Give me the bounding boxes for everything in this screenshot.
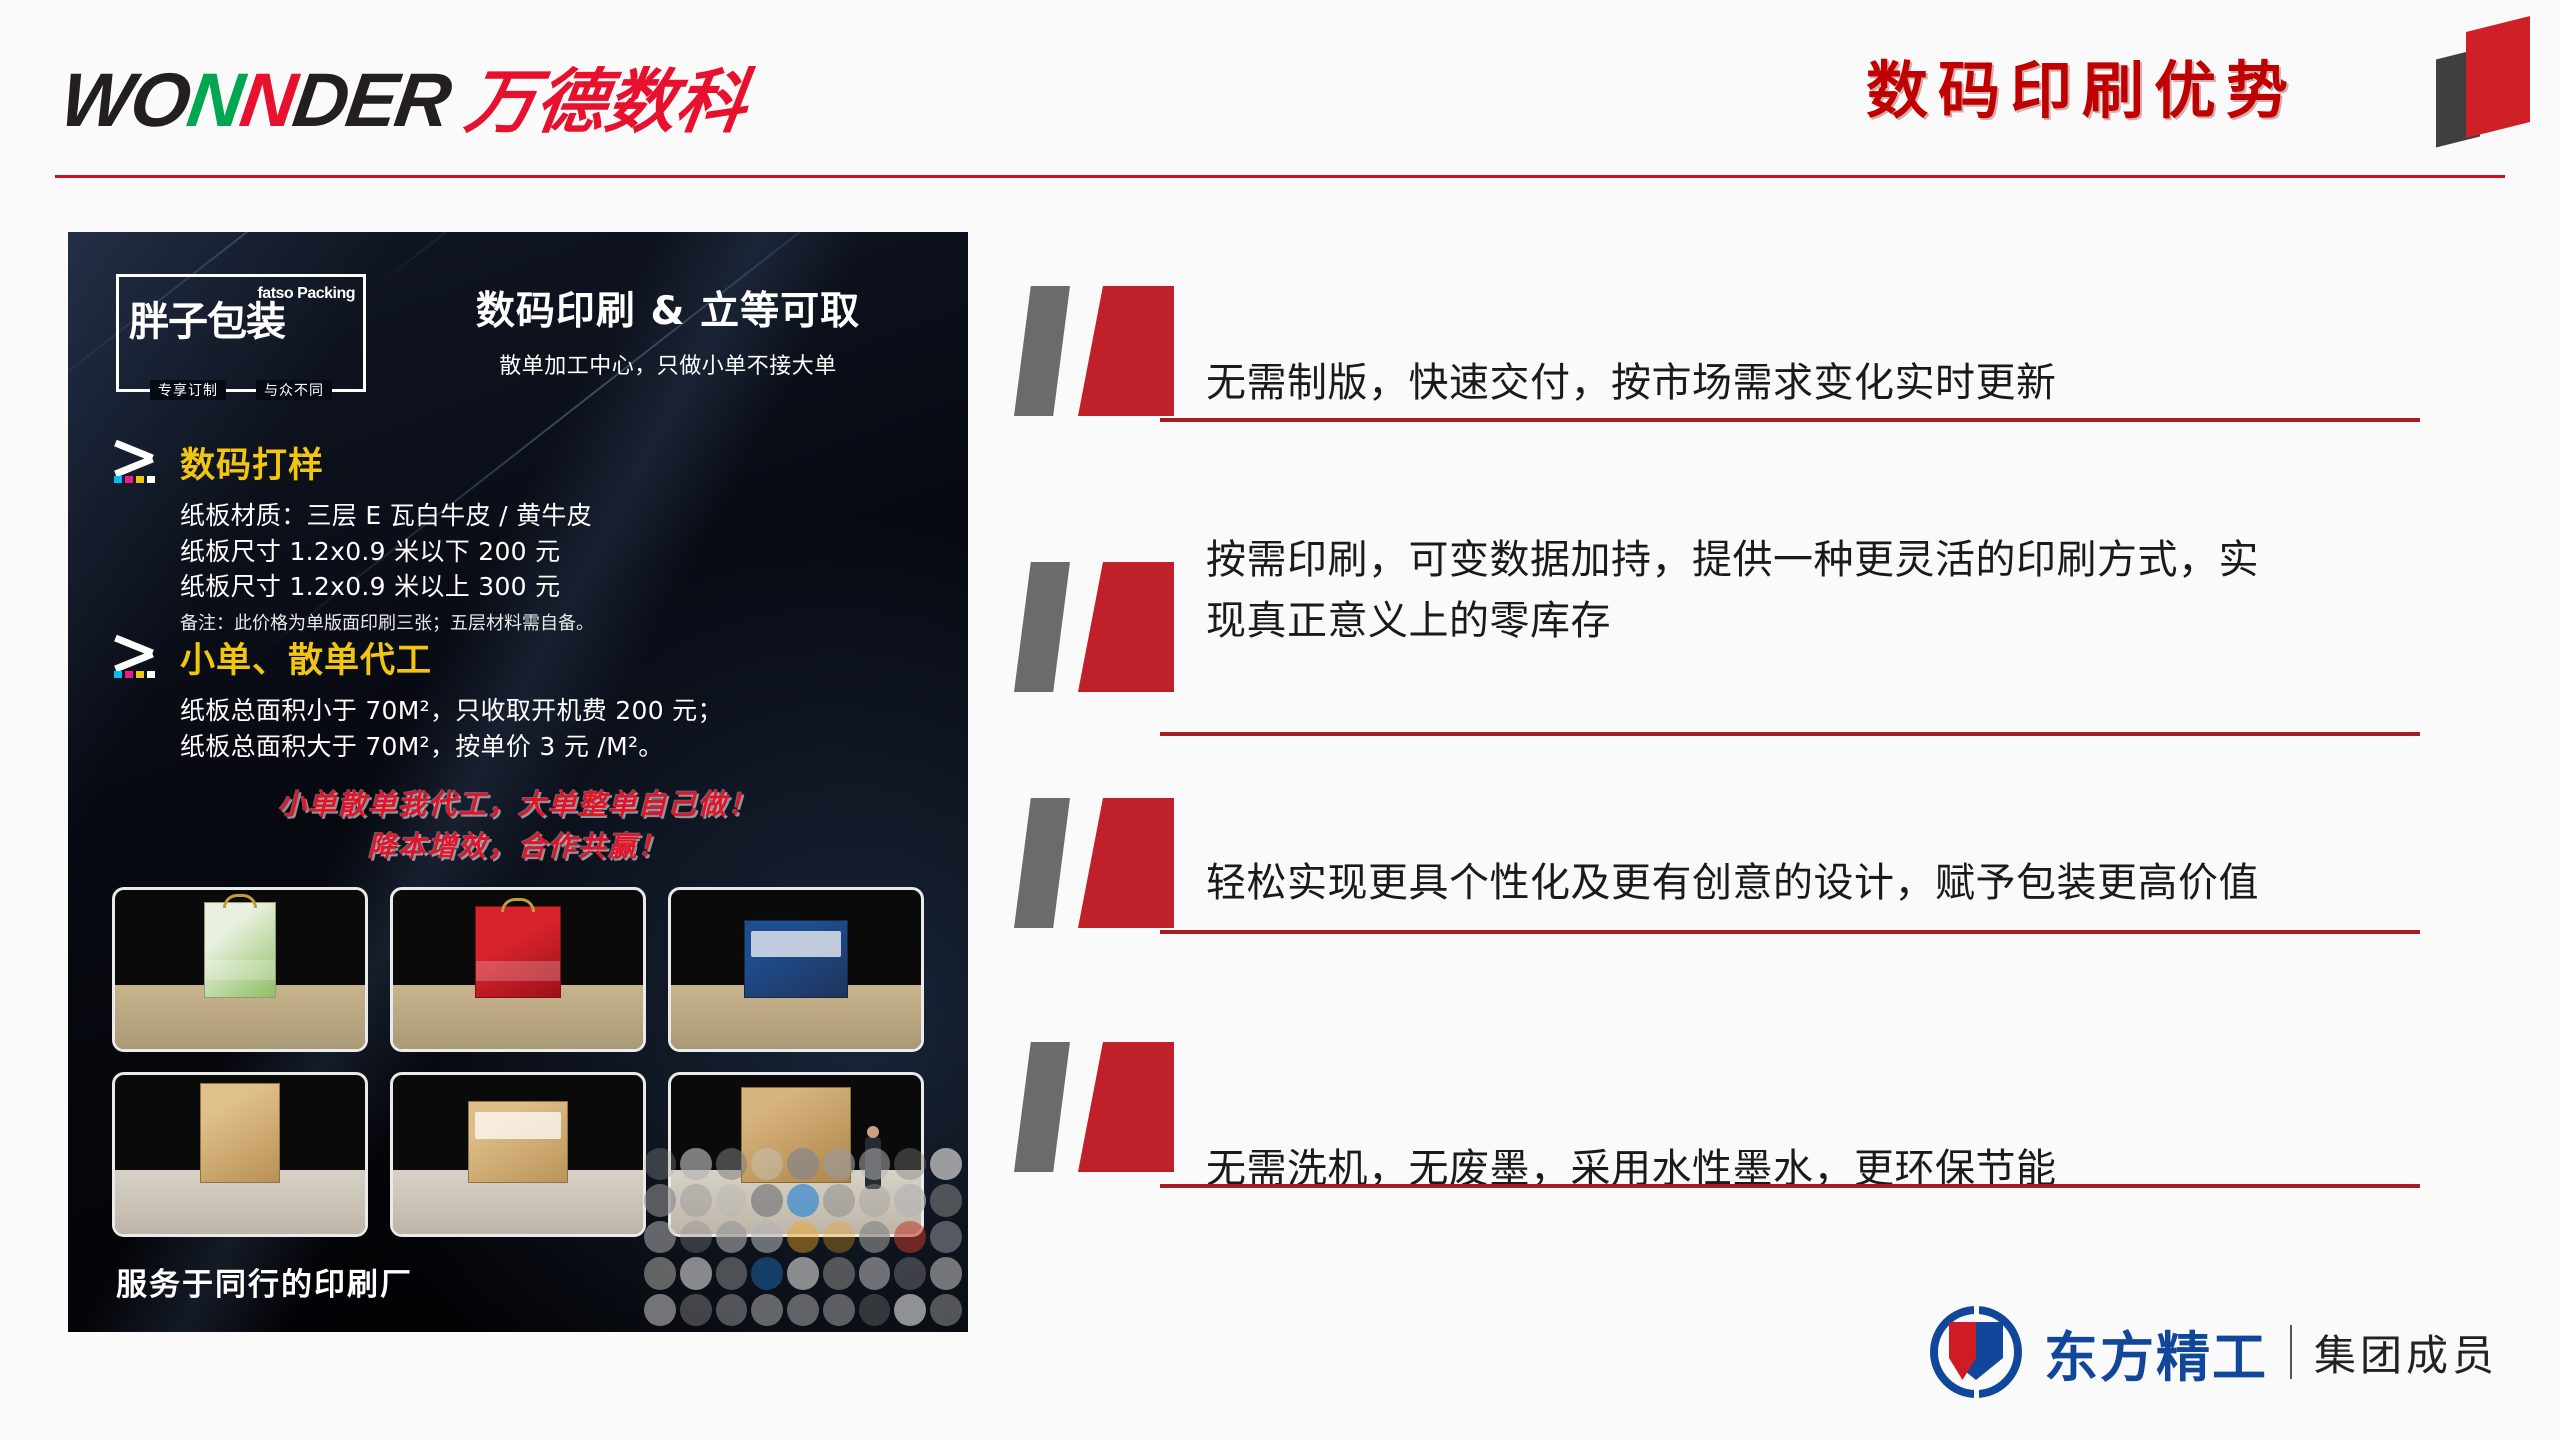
pattern-dot: [894, 1148, 926, 1180]
poster-subheadline: 散单加工中心，只做小单不接大单: [398, 348, 938, 380]
advantage-item-3: 轻松实现更具个性化及更有创意的设计，赋予包装更高价值: [1010, 788, 2430, 938]
advantage-item-2: 按需印刷，可变数据加持，提供一种更灵活的印刷方式，实 现真正意义上的零库存: [1010, 530, 2430, 720]
advantage-underline: [1160, 1184, 2420, 1188]
pattern-dot: [894, 1221, 926, 1253]
pattern-dot: [680, 1294, 712, 1326]
advantage-text-1: 无需制版，快速交付，按市场需求变化实时更新: [1206, 276, 2416, 414]
poster-section-title-row: 小单、散单代工: [112, 632, 932, 683]
product-photo-honey-gift-box: [112, 887, 368, 1052]
pattern-dot: [644, 1294, 676, 1326]
pattern-dot: [823, 1221, 855, 1253]
pattern-dot: [787, 1257, 819, 1289]
footer-group-logo: 东方精工 集团成员: [1930, 1306, 2498, 1398]
pattern-dot: [751, 1148, 783, 1180]
advantage-underline: [1160, 732, 2420, 736]
advantage-text-2: 按需印刷，可变数据加持，提供一种更灵活的印刷方式，实 现真正意义上的零库存: [1206, 514, 2416, 652]
poster-slogan-line1: 小单散单我代工，大单整单自己做！: [68, 784, 968, 826]
poster-line: 纸板总面积大于 70M²，按单价 3 元 /M²。: [180, 729, 932, 765]
pattern-dot: [859, 1294, 891, 1326]
advantage-line: 轻松实现更具个性化及更有创意的设计，赋予包装更高价值: [1206, 853, 2416, 914]
product-photo-red-gift-box: [390, 887, 646, 1052]
product-photo-classic-boxes: [390, 1072, 646, 1237]
pattern-dot: [787, 1221, 819, 1253]
poster-section-title: 小单、散单代工: [180, 632, 432, 683]
pattern-dot: [716, 1221, 748, 1253]
pattern-dot: [823, 1294, 855, 1326]
poster-tagline-right: 与众不同: [256, 380, 332, 400]
advantages-list: 无需制版，快速交付，按市场需求变化实时更新 按需印刷，可变数据加持，提供一种更灵…: [1010, 276, 2430, 1192]
poster-section-lines: 纸板材质：三层 E 瓦白牛皮 / 黄牛皮 纸板尺寸 1.2x0.9 米以下 20…: [112, 498, 932, 635]
poster-tagline-left: 专享订制: [150, 380, 226, 400]
header-divider: [55, 175, 2505, 178]
footer-member-label: 集团成员: [2314, 1322, 2498, 1383]
poster-headline-group: 数码印刷 & 立等可取 散单加工中心，只做小单不接大单: [398, 280, 938, 380]
pattern-dot: [823, 1148, 855, 1180]
poster-brand-box: 胖子包装 fatso Packing 专享订制 与众不同: [116, 274, 366, 392]
pattern-dot: [823, 1257, 855, 1289]
pattern-dot: [930, 1184, 962, 1216]
pattern-dot: [823, 1184, 855, 1216]
poster-section-title-row: 数码打样: [112, 437, 932, 488]
advantage-item-1: 无需制版，快速交付，按市场需求变化实时更新: [1010, 276, 2430, 426]
wonder-brand-logo: WONNDER 万德数科: [55, 46, 754, 147]
poster-headline: 数码印刷 & 立等可取: [398, 280, 938, 336]
pattern-dot: [644, 1257, 676, 1289]
pattern-dot: [894, 1184, 926, 1216]
pattern-dot: [859, 1148, 891, 1180]
promo-poster-image: 胖子包装 fatso Packing 专享订制 与众不同 数码印刷 & 立等可取…: [68, 232, 968, 1332]
poster-slogan: 小单散单我代工，大单整单自己做！ 降本增效，合作共赢！: [68, 784, 968, 868]
pattern-dot: [751, 1257, 783, 1289]
pattern-dot: [680, 1148, 712, 1180]
poster-line: 纸板尺寸 1.2x0.9 米以下 200 元: [180, 534, 932, 570]
bullet-marker-icon: [1010, 788, 1190, 938]
pattern-dot: [930, 1294, 962, 1326]
poster-section-proofing: 数码打样 纸板材质：三层 E 瓦白牛皮 / 黄牛皮 纸板尺寸 1.2x0.9 米…: [112, 437, 932, 635]
pattern-dot: [716, 1148, 748, 1180]
pattern-dot: [930, 1257, 962, 1289]
poster-brand-taglines: 专享订制 与众不同: [119, 380, 363, 400]
poster-line: 纸板材质：三层 E 瓦白牛皮 / 黄牛皮: [180, 498, 932, 534]
advantage-line: 无需洗机，无废墨，采用水性墨水，更环保节能: [1206, 1139, 2416, 1200]
advantage-text-3: 轻松实现更具个性化及更有创意的设计，赋予包装更高价值: [1206, 776, 2416, 914]
pattern-dot: [859, 1221, 891, 1253]
pattern-dot: [787, 1148, 819, 1180]
poster-slogan-line2: 降本增效，合作共赢！: [68, 826, 968, 868]
advantage-line: 无需制版，快速交付，按市场需求变化实时更新: [1206, 353, 2416, 414]
poster-section-lines: 纸板总面积小于 70M²，只收取开机费 200 元； 纸板总面积大于 70M²，…: [112, 693, 932, 764]
pattern-dot: [680, 1257, 712, 1289]
pattern-dot: [894, 1294, 926, 1326]
pattern-dot: [894, 1257, 926, 1289]
pattern-dot: [716, 1184, 748, 1216]
pattern-dot: [680, 1184, 712, 1216]
advantage-text-4: 无需洗机，无废墨，采用水性墨水，更环保节能: [1206, 1062, 2416, 1200]
pattern-dot: [859, 1257, 891, 1289]
advantage-item-4: 无需洗机，无废墨，采用水性墨水，更环保节能: [1010, 1042, 2430, 1192]
page-title: 数码印刷优势: [1866, 40, 2298, 130]
poster-brand-en: fatso Packing: [257, 285, 355, 303]
corner-decoration-icon: [2410, 6, 2538, 138]
product-photo-beef-dumpling-box: [668, 887, 924, 1052]
wonder-chinese-name: 万德数科: [460, 46, 754, 147]
corner-red-shape: [2466, 16, 2530, 138]
pattern-dot: [716, 1294, 748, 1326]
product-photo-kraft-city-box: [112, 1072, 368, 1237]
poster-line: 纸板总面积小于 70M²，只收取开机费 200 元；: [180, 693, 932, 729]
pattern-dot: [644, 1148, 676, 1180]
double-chevron-icon: [112, 443, 166, 483]
poster-section-title: 数码打样: [180, 437, 324, 488]
pattern-dot: [787, 1184, 819, 1216]
poster-footer-text: 服务于同行的印刷厂: [116, 1259, 413, 1304]
pattern-dot: [930, 1148, 962, 1180]
pattern-dot: [787, 1294, 819, 1326]
advantage-underline: [1160, 418, 2420, 422]
slide-header: WONNDER 万德数科 数码印刷优势: [0, 0, 2560, 190]
footer-company-name: 东方精工: [2044, 1313, 2268, 1392]
pattern-dot: [930, 1221, 962, 1253]
bullet-marker-icon: [1010, 1032, 1190, 1182]
double-chevron-icon: [112, 638, 166, 678]
poster-line: 纸板尺寸 1.2x0.9 米以上 300 元: [180, 569, 932, 605]
poster-section-oem: 小单、散单代工 纸板总面积小于 70M²，只收取开机费 200 元； 纸板总面积…: [112, 632, 932, 764]
bullet-marker-icon: [1010, 552, 1190, 702]
poster-note: 备注：此价格为单版面印刷三张；五层材料需自备。: [180, 609, 932, 635]
advantage-line: 按需印刷，可变数据加持，提供一种更灵活的印刷方式，实: [1206, 530, 2416, 591]
footer-divider: [2290, 1325, 2292, 1379]
bullet-marker-icon: [1010, 276, 1190, 426]
pattern-dot: [644, 1221, 676, 1253]
pattern-dot: [644, 1184, 676, 1216]
decorative-dot-pattern: [638, 1142, 968, 1332]
pattern-dot: [751, 1221, 783, 1253]
pattern-dot: [859, 1184, 891, 1216]
pattern-dot: [751, 1294, 783, 1326]
dongfang-emblem-icon: [1930, 1306, 2022, 1398]
advantage-underline: [1160, 930, 2420, 934]
pattern-dot: [716, 1257, 748, 1289]
wonder-wordmark: WONNDER: [55, 57, 454, 144]
pattern-dot: [680, 1221, 712, 1253]
pattern-dot: [751, 1184, 783, 1216]
advantage-line: 现真正意义上的零库存: [1206, 591, 2416, 652]
